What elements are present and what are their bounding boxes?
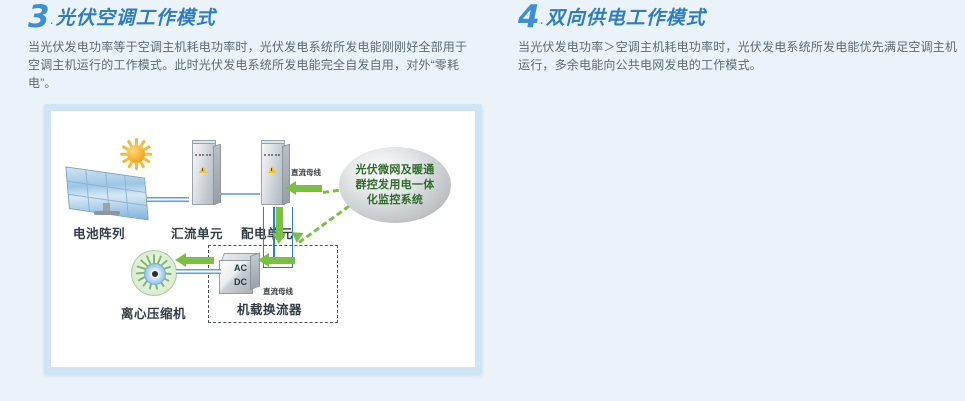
section-number: 3 [28,4,49,31]
label-combiner-unit: 汇流单元 [171,223,223,242]
solar-panel-icon [69,159,155,219]
section-3-title-row: 3 . 光伏空调工作模式 [28,4,468,31]
arrow-to-distribution [296,185,322,192]
section-4-header: 4 . 双向供电工作模式 当光伏发电功率＞空调主机耗电功率时，光伏发电系统所发电… [518,4,958,74]
monitor-line-3: 化监控系统 [355,193,434,208]
distribution-unit-icon [257,143,288,205]
monitoring-system-ellipse: 光伏微网及暖通 群控发用电一体 化监控系统 [339,147,451,223]
section-description: 当光伏发电功率等于空调主机耗电功率时，光伏发电系统所发电能刚刚好全部用于空调主机… [28,38,468,92]
section-photovoltaic-ac-mode: 3 . 光伏空调工作模式 当光伏发电功率等于空调主机耗电功率时，光伏发电系统所发… [0,0,490,401]
section-description: 当光伏发电功率＞空调主机耗电功率时，光伏发电系统所发电能优先满足空调主机运行，多… [518,38,958,74]
converter-ac-dc-icon: AC DC [219,255,259,295]
page-root: 3 . 光伏空调工作模式 当光伏发电功率等于空调主机耗电功率时，光伏发电系统所发… [0,0,965,401]
section-4-title-row: 4 . 双向供电工作模式 [518,4,958,31]
monitor-link-converter [298,205,350,244]
section-number-separator: . [539,9,546,31]
section-bidirectional-supply-mode: 4 . 双向供电工作模式 当光伏发电功率＞空调主机耗电功率时，光伏发电系统所发电… [490,0,965,401]
diagram-panel-left: 电池阵列 汇流单元 配电单元 [44,104,482,374]
section-number-separator: . [49,9,56,31]
page-title: 光伏空调工作模式 [56,7,216,31]
label-compressor: 离心压缩机 [121,303,186,322]
section-3-header: 3 . 光伏空调工作模式 当光伏发电功率等于空调主机耗电功率时，光伏发电系统所发… [28,4,468,92]
label-converter: 机载换流器 [237,299,302,318]
converter-label-top: AC [234,263,247,273]
monitor-line-1: 光伏微网及暖通 [355,163,434,178]
arrow-to-converter [269,257,295,264]
compressor-icon [131,250,177,296]
monitoring-system-text: 光伏微网及暖通 群控发用电一体 化监控系统 [355,163,434,208]
converter-label-bottom: DC [234,277,247,287]
combiner-unit-icon [188,143,219,205]
label-dc-bus-top: 直流母线 [291,167,321,178]
arrow-down-to-converter [276,207,283,233]
monitor-line-2: 群控发用电一体 [355,178,434,193]
bus-converter-to-compressor [176,269,221,274]
bus-solar-to-combiner [147,197,189,202]
page-title: 双向供电工作模式 [546,7,706,31]
bus-combiner-to-distribution [219,193,260,195]
label-solar-array: 电池阵列 [73,223,125,242]
diagram-canvas-left: 电池阵列 汇流单元 配电单元 [51,111,475,367]
section-number: 4 [518,4,539,31]
label-dc-bus-bottom: 直流母线 [263,286,293,297]
arrow-to-compressor [186,257,214,264]
